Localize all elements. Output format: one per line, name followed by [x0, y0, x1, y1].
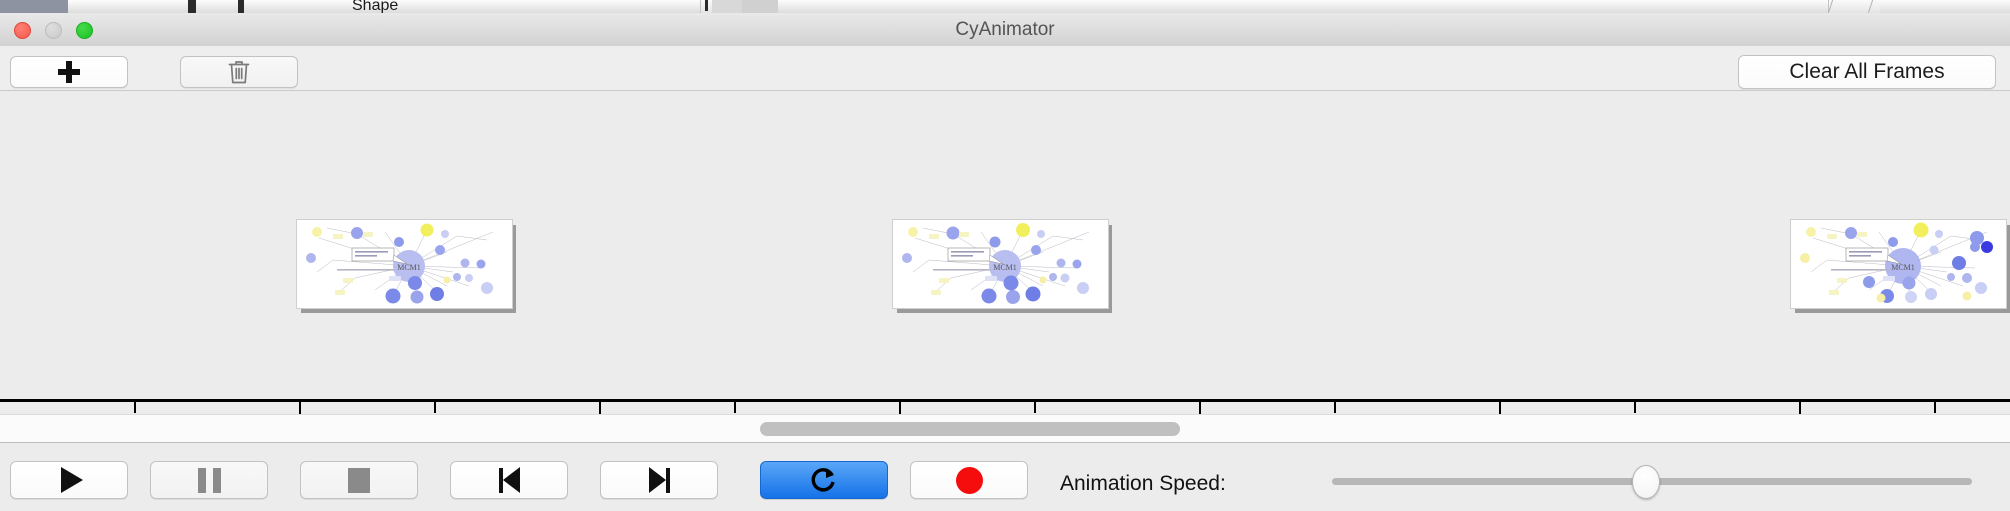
plus-icon — [58, 61, 80, 83]
skip-to-start-button[interactable] — [450, 461, 568, 499]
timeline-frame[interactable]: MCM1 — [892, 219, 1112, 311]
stop-button[interactable] — [300, 461, 418, 499]
loop-icon — [810, 465, 838, 495]
background-window-strip: Shape — [0, 0, 2010, 13]
axis-tick-minor — [734, 402, 736, 413]
cyanimator-window: Shape CyAnimator Clear All Frames — [0, 0, 2010, 510]
title-bar: CyAnimator — [0, 13, 2010, 47]
frame-node-label: MCM1 — [993, 263, 1017, 272]
skip-to-end-button[interactable] — [600, 461, 718, 499]
trash-icon — [227, 59, 251, 85]
skip-forward-icon — [649, 467, 670, 493]
animation-speed-label: Animation Speed: — [1060, 472, 1226, 496]
add-frame-button[interactable] — [10, 56, 128, 88]
background-window-selected-tab — [0, 0, 68, 13]
network-graph-thumbnail: MCM1 — [297, 220, 512, 308]
axis-tick-minor — [1034, 402, 1036, 413]
frame-thumbnail: MCM1 — [892, 219, 1109, 309]
axis-tick-minor — [1934, 402, 1936, 413]
window-title: CyAnimator — [0, 13, 2010, 46]
axis-tick-minor — [1334, 402, 1336, 413]
network-graph-thumbnail: MCM1 — [893, 220, 1108, 308]
record-button[interactable] — [910, 461, 1028, 499]
skip-back-icon — [499, 467, 520, 493]
record-icon — [956, 467, 983, 494]
timeline-frame[interactable]: MCM1 — [1790, 219, 2010, 311]
toolbar — [0, 46, 2010, 91]
frame-node-label: MCM1 — [1891, 263, 1915, 272]
stop-icon — [348, 468, 370, 493]
delete-frame-button[interactable] — [180, 56, 298, 88]
animation-speed-slider-thumb[interactable] — [1632, 465, 1660, 499]
pause-icon — [198, 468, 221, 493]
background-window-label: Shape — [352, 0, 398, 13]
network-graph-thumbnail: MCM1 — [1791, 220, 2006, 308]
timeline-axis — [0, 399, 2010, 402]
animation-speed-slider-track[interactable] — [1332, 478, 1972, 485]
timeline-panel[interactable]: MCM1 — [0, 91, 2010, 414]
timeline-scrollbar-track[interactable] — [0, 414, 2010, 443]
play-icon — [61, 467, 83, 493]
frame-thumbnail: MCM1 — [1790, 219, 2007, 309]
frame-thumbnail: MCM1 — [296, 219, 513, 309]
play-button[interactable] — [10, 461, 128, 499]
pause-button[interactable] — [150, 461, 268, 499]
timeline-frame[interactable]: MCM1 — [296, 219, 516, 311]
axis-tick-minor — [1634, 402, 1636, 413]
timeline-scrollbar-thumb[interactable] — [760, 422, 1180, 436]
loop-button[interactable] — [760, 461, 888, 499]
clear-all-frames-button[interactable]: Clear All Frames — [1738, 55, 1996, 89]
frame-node-label: MCM1 — [397, 263, 421, 272]
axis-tick-minor — [134, 402, 136, 413]
axis-tick-minor — [434, 402, 436, 413]
